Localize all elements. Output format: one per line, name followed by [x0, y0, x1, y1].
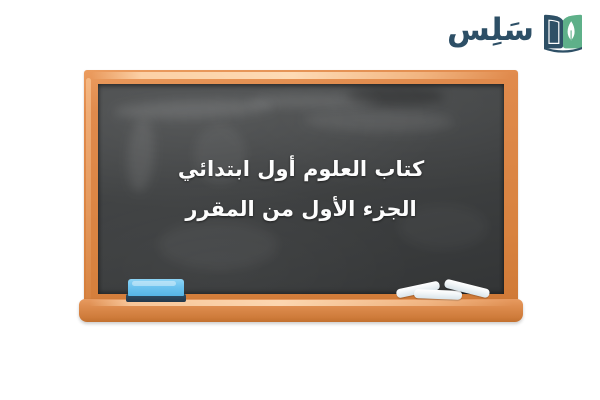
frame-top-highlight [91, 72, 511, 79]
chalk-eraser [128, 279, 184, 303]
blackboard: كتاب العلوم أول ابتدائي الجزء الأول من ا… [84, 70, 518, 325]
open-book-icon [540, 9, 586, 55]
board-title-line-1: كتاب العلوم أول ابتدائي [178, 157, 424, 181]
blackboard-slate: كتاب العلوم أول ابتدائي الجزء الأول من ا… [98, 84, 504, 294]
brand-name-text: سَلِس [447, 15, 534, 49]
frame-left-highlight [86, 78, 91, 300]
chalk-sticks [396, 274, 506, 304]
brand-logo[interactable]: سَلِس [447, 6, 586, 58]
board-title-line-2: الجزء الأول من المقرر [185, 197, 416, 221]
eraser-highlight [132, 281, 176, 286]
blackboard-text-block: كتاب العلوم أول ابتدائي الجزء الأول من ا… [98, 84, 504, 294]
eraser-body [128, 279, 184, 296]
poster-canvas: سَلِس [0, 0, 600, 400]
chalk-stick [414, 289, 462, 300]
